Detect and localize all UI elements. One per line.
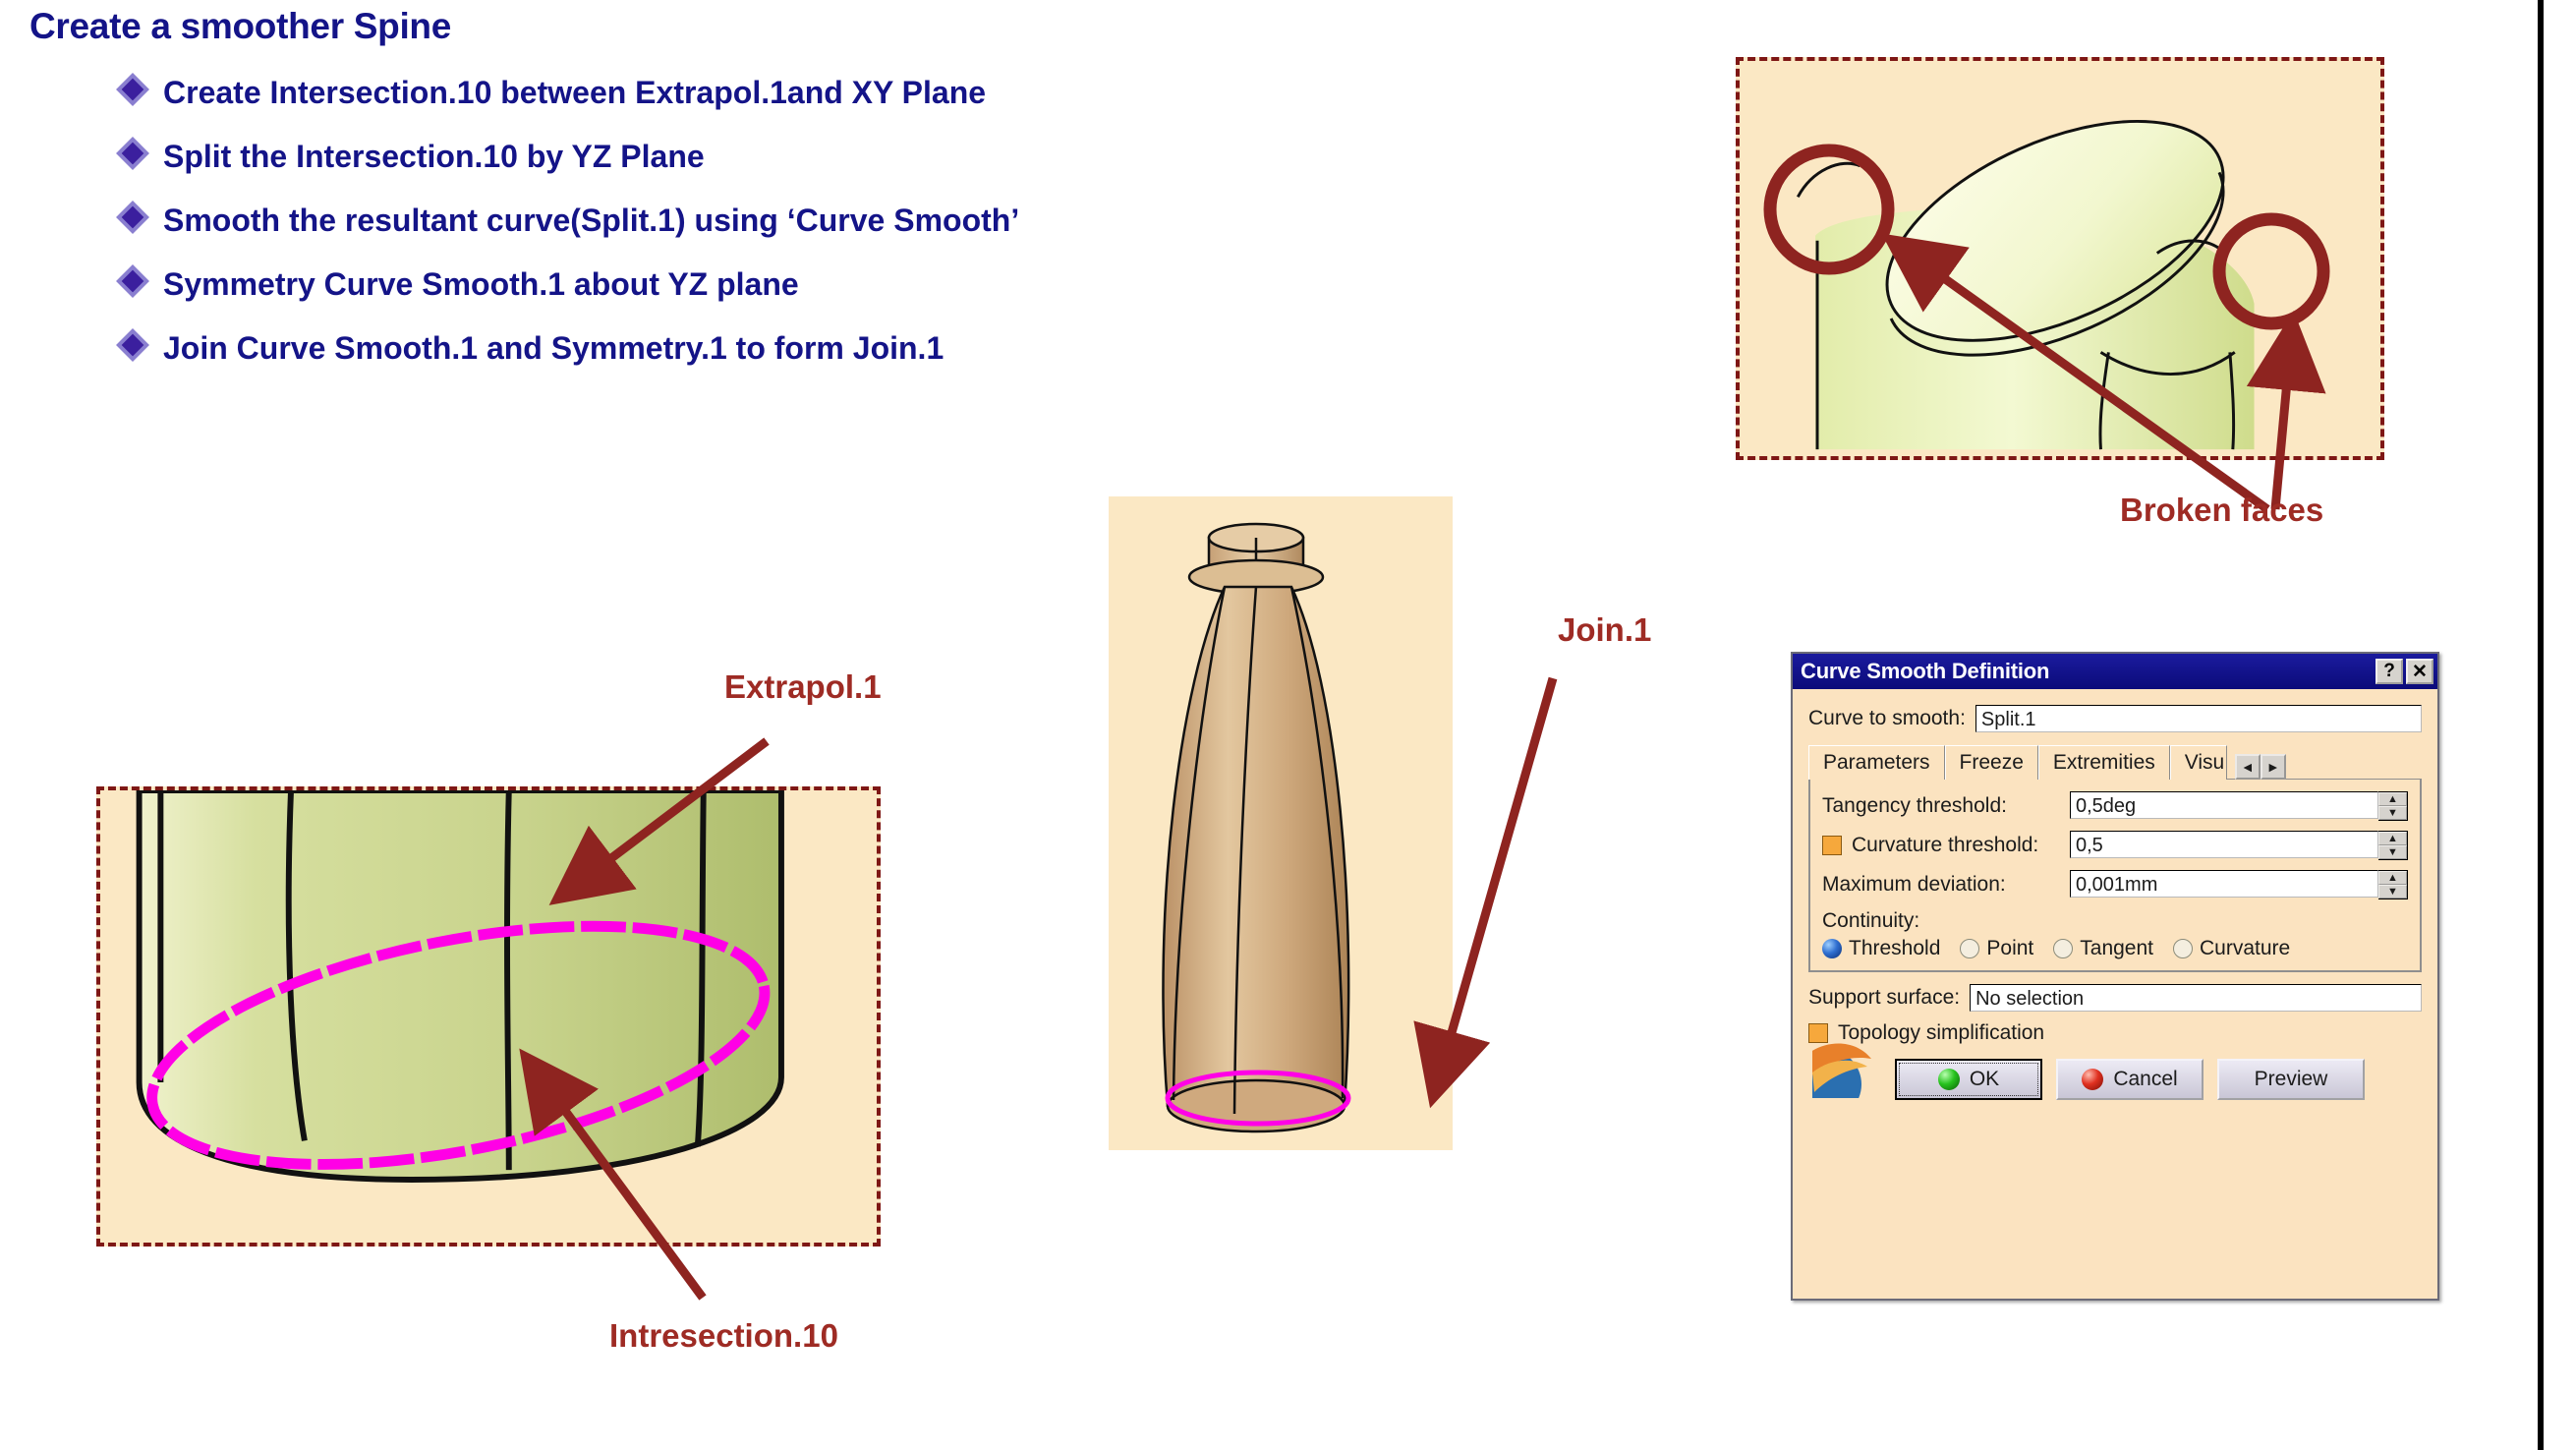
extrapol-3d-view (100, 790, 877, 1246)
curvature-threshold-label: Curvature threshold: (1852, 834, 2038, 857)
tab-extremities[interactable]: Extremities (2038, 745, 2170, 780)
tab-visu[interactable]: Visu (2170, 745, 2227, 780)
radio-tangent-label: Tangent (2080, 937, 2153, 960)
list-item: Join Curve Smooth.1 and Symmetry.1 to fo… (120, 326, 1742, 370)
diamond-bullet-icon (120, 326, 163, 358)
dialog-body: Curve to smooth: Split.1 Parameters Free… (1793, 689, 2437, 972)
annotation-label-intersection: Intresection.10 (609, 1317, 838, 1355)
stepper-down-icon[interactable]: ▼ (2378, 885, 2407, 899)
dialog-footer: Support surface: No selection Topology s… (1793, 972, 2437, 1100)
stepper-down-icon[interactable]: ▼ (2378, 806, 2407, 820)
tangency-threshold-row: Tangency threshold: 0,5deg ▲ ▼ (1822, 791, 2408, 821)
extrapol-figure (96, 786, 881, 1247)
maximum-deviation-label: Maximum deviation: (1822, 873, 2070, 897)
tab-scroll-right-icon[interactable]: ► (2261, 754, 2286, 780)
close-icon[interactable]: ✕ (2406, 659, 2433, 684)
tangency-threshold-label: Tangency threshold: (1822, 794, 2070, 818)
annotation-label-extrapol: Extrapol.1 (724, 668, 882, 706)
radio-threshold-label: Threshold (1849, 937, 1940, 960)
maximum-deviation-stepper[interactable]: ▲ ▼ (2378, 870, 2408, 899)
radio-point-label: Point (1986, 937, 2033, 960)
radio-point[interactable]: Point (1960, 937, 2033, 960)
support-surface-input[interactable]: No selection (1970, 984, 2422, 1012)
bottle-figure (1109, 496, 1453, 1150)
curve-to-smooth-label: Curve to smooth: (1808, 707, 1966, 730)
list-item-label: Smooth the resultant curve(Split.1) usin… (163, 199, 1019, 242)
topology-simplification-row[interactable]: Topology simplification (1808, 1021, 2422, 1045)
tangency-threshold-input[interactable]: 0,5deg (2070, 791, 2378, 819)
support-surface-label: Support surface: (1808, 986, 1960, 1010)
diamond-bullet-icon (120, 199, 163, 230)
page-edge-rule (2538, 0, 2544, 1450)
diamond-bullet-icon (120, 135, 163, 166)
radio-threshold[interactable]: Threshold (1822, 937, 1940, 960)
curvature-threshold-input[interactable]: 0,5 (2070, 831, 2378, 858)
ok-orb-icon (1938, 1069, 1960, 1090)
page-title: Create a smoother Spine (29, 6, 451, 47)
tab-scroll-left-icon[interactable]: ◄ (2235, 754, 2261, 780)
tangency-threshold-control[interactable]: 0,5deg ▲ ▼ (2070, 791, 2408, 821)
radio-tangent-indicator[interactable] (2053, 939, 2073, 958)
list-item: Create Intersection.10 between Extrapol.… (120, 71, 1742, 114)
parameters-tab-panel: Tangency threshold: 0,5deg ▲ ▼ Curvature… (1808, 779, 2422, 972)
curvature-threshold-control[interactable]: 0,5 ▲ ▼ (2070, 831, 2408, 860)
dialog-title: Curve Smooth Definition (1801, 659, 2373, 684)
bottle-3d-view (1109, 496, 1453, 1150)
tab-strip: Parameters Freeze Extremities Visu ◄ ► (1808, 744, 2422, 780)
list-item-label: Create Intersection.10 between Extrapol.… (163, 71, 986, 114)
cancel-orb-icon (2082, 1069, 2103, 1090)
catia-globe-icon (1812, 1033, 1889, 1098)
radio-point-indicator[interactable] (1960, 939, 1979, 958)
radio-curvature-label: Curvature (2200, 937, 2290, 960)
broken-faces-3d-view (1740, 61, 2380, 459)
annotation-label-join: Join.1 (1558, 611, 1651, 649)
support-surface-row: Support surface: No selection (1808, 984, 2422, 1012)
maximum-deviation-input[interactable]: 0,001mm (2070, 870, 2378, 898)
tab-parameters[interactable]: Parameters (1808, 745, 1945, 780)
help-button[interactable]: ? (2376, 659, 2403, 684)
ok-button[interactable]: OK (1895, 1059, 2042, 1100)
radio-tangent[interactable]: Tangent (2053, 937, 2153, 960)
radio-curvature-indicator[interactable] (2173, 939, 2193, 958)
bullet-list: Create Intersection.10 between Extrapol.… (120, 71, 1742, 390)
list-item-label: Split the Intersection.10 by YZ Plane (163, 135, 705, 178)
tab-freeze[interactable]: Freeze (1945, 745, 2038, 780)
list-item: Symmetry Curve Smooth.1 about YZ plane (120, 262, 1742, 306)
tangency-threshold-stepper[interactable]: ▲ ▼ (2378, 791, 2408, 821)
tab-scroll-controls: ◄ ► (2235, 754, 2286, 780)
dialog-titlebar[interactable]: Curve Smooth Definition ? ✕ (1793, 654, 2437, 689)
curvature-threshold-row: Curvature threshold: 0,5 ▲ ▼ (1822, 831, 2408, 860)
curve-smooth-definition-dialog[interactable]: Curve Smooth Definition ? ✕ Curve to smo… (1791, 652, 2439, 1301)
preview-button[interactable]: Preview (2217, 1059, 2365, 1100)
curvature-threshold-checkbox[interactable] (1822, 836, 1842, 855)
continuity-radio-group: Threshold Point Tangent Curvature (1822, 937, 2408, 960)
broken-faces-figure (1736, 57, 2384, 460)
dialog-button-row: OK Cancel Preview (1808, 1059, 2422, 1100)
curve-to-smooth-row: Curve to smooth: Split.1 (1808, 705, 2422, 732)
radio-curvature[interactable]: Curvature (2173, 937, 2290, 960)
stepper-up-icon[interactable]: ▲ (2378, 832, 2407, 845)
annotation-label-broken-faces: Broken faces (2120, 492, 2323, 529)
curvature-threshold-label-group: Curvature threshold: (1822, 834, 2070, 857)
stepper-up-icon[interactable]: ▲ (2378, 792, 2407, 806)
stepper-down-icon[interactable]: ▼ (2378, 845, 2407, 859)
maximum-deviation-control[interactable]: 0,001mm ▲ ▼ (2070, 870, 2408, 899)
ok-button-label: OK (1970, 1068, 1999, 1091)
preview-button-label: Preview (2255, 1068, 2328, 1091)
cancel-button[interactable]: Cancel (2056, 1059, 2204, 1100)
diamond-bullet-icon (120, 71, 163, 102)
curve-to-smooth-input[interactable]: Split.1 (1975, 705, 2422, 732)
list-item: Split the Intersection.10 by YZ Plane (120, 135, 1742, 178)
list-item-label: Join Curve Smooth.1 and Symmetry.1 to fo… (163, 326, 944, 370)
list-item: Smooth the resultant curve(Split.1) usin… (120, 199, 1742, 242)
diamond-bullet-icon (120, 262, 163, 294)
list-item-label: Symmetry Curve Smooth.1 about YZ plane (163, 262, 799, 306)
radio-threshold-indicator[interactable] (1822, 939, 1842, 958)
maximum-deviation-row: Maximum deviation: 0,001mm ▲ ▼ (1822, 870, 2408, 899)
stepper-up-icon[interactable]: ▲ (2378, 871, 2407, 885)
continuity-label: Continuity: (1822, 909, 2408, 933)
curvature-threshold-stepper[interactable]: ▲ ▼ (2378, 831, 2408, 860)
cancel-button-label: Cancel (2113, 1068, 2177, 1091)
